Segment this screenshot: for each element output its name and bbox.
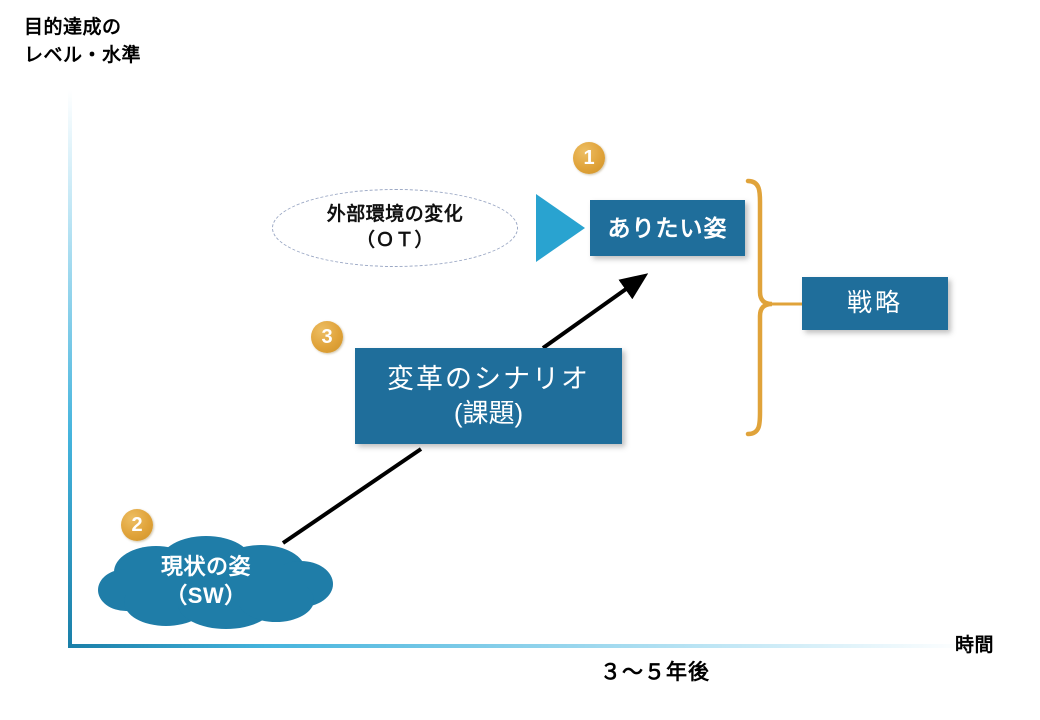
current-state-cloud[interactable] — [96, 532, 336, 632]
y-axis-line — [68, 90, 72, 648]
badge-two: 2 — [121, 509, 153, 541]
scenario-line1: 変革のシナリオ — [387, 363, 590, 397]
scenario-line2: (課題) — [454, 397, 523, 430]
external-environment-line2: （ＯＴ） — [356, 228, 434, 254]
scenario-box[interactable]: 変革のシナリオ (課題) — [355, 348, 622, 444]
future-state-box[interactable]: ありたい姿 — [590, 200, 745, 256]
arrow-scenario-to-future — [543, 277, 643, 348]
external-environment-ellipse: 外部環境の変化 （ＯＴ） — [272, 189, 518, 267]
x-axis-line — [68, 644, 968, 648]
x-axis-caption: ３～５年後 — [600, 656, 710, 686]
badge-one: 1 — [573, 142, 605, 174]
badge-three: 3 — [311, 321, 343, 353]
y-axis-label: 目的達成の レベル・水準 — [24, 14, 141, 69]
external-environment-line1: 外部環境の変化 — [327, 202, 464, 228]
slide-canvas: 目的達成の レベル・水準 時間 ３～５年後 外部環境の変化 （ＯＴ） ありたい姿… — [0, 0, 1040, 720]
connector-current-to-scenario — [283, 449, 421, 543]
x-axis-label: 時間 — [955, 630, 994, 657]
strategy-box[interactable]: 戦略 — [802, 277, 948, 330]
strategy-brace — [748, 181, 772, 434]
triangle-pointer-icon — [536, 194, 585, 262]
